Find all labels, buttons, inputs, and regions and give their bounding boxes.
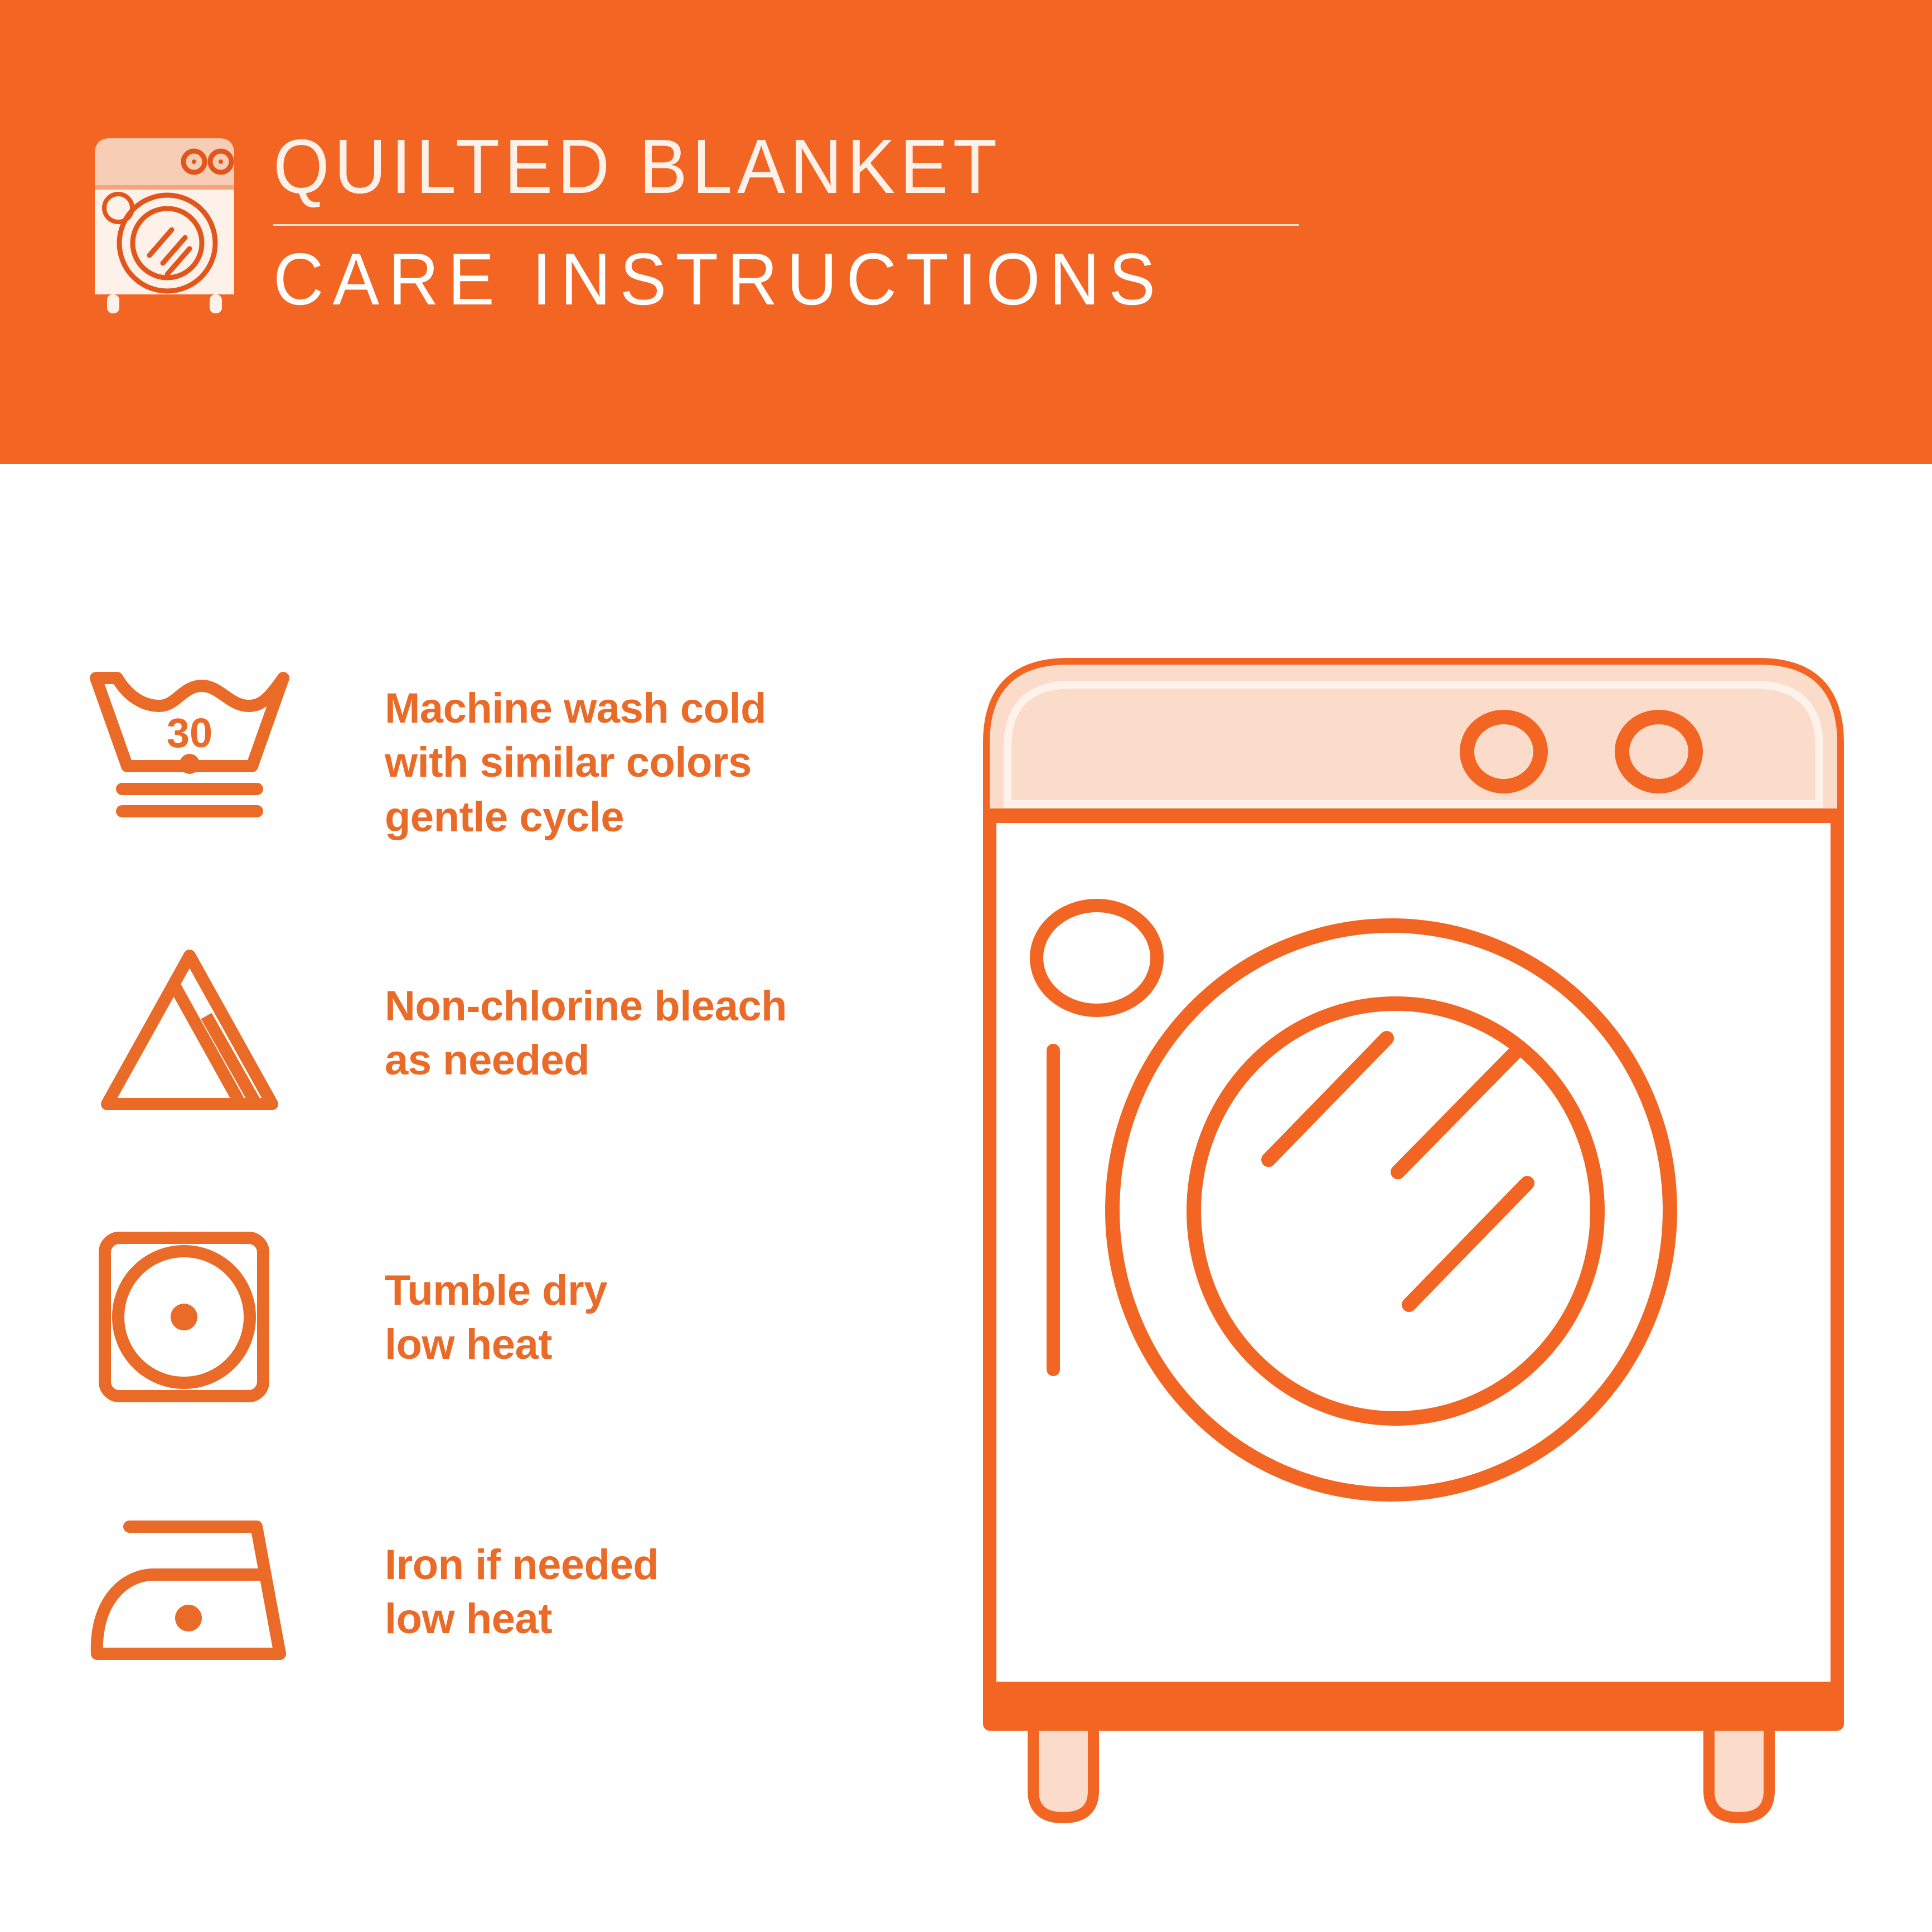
care-text-iron: Iron if needed low heat: [385, 1538, 658, 1647]
care-row-bleach: Non-chlorine bleach as needed: [84, 937, 920, 1216]
care-row-machine-wash: 30 Machine wash cold with similar colors…: [84, 658, 920, 937]
knob-left: [1467, 717, 1541, 786]
bleach-triangle-non-chlorine-icon: [84, 942, 296, 1126]
tumble-dry-low-heat-icon: [95, 1228, 273, 1412]
knob-right: [1622, 717, 1696, 786]
care-instructions-page: QUILTED BLANKET CARE INSTRUCTIONS 30: [0, 0, 1932, 1932]
svg-text:30: 30: [167, 710, 212, 756]
porthole-small: [1037, 906, 1157, 1010]
title-divider: [273, 224, 1299, 226]
care-row-tumble-dry: Tumble dry low heat: [84, 1216, 920, 1494]
care-text-machine-wash: Machine wash cold with similar colors ge…: [385, 681, 766, 844]
header-text-column: QUILTED BLANKET CARE INSTRUCTIONS: [273, 128, 1360, 316]
wash-tub-30-gentle-icon: 30: [84, 665, 296, 849]
care-text-bleach: Non-chlorine bleach as needed: [385, 979, 787, 1088]
page-subtitle: CARE INSTRUCTIONS: [273, 243, 1306, 316]
care-row-iron: Iron if needed low heat: [84, 1494, 920, 1773]
large-washing-machine-illustration: [967, 641, 1860, 1868]
header-inner: QUILTED BLANKET CARE INSTRUCTIONS: [84, 128, 1366, 340]
washing-machine-icon: [84, 134, 245, 318]
header-band: QUILTED BLANKET CARE INSTRUCTIONS: [0, 0, 1932, 464]
care-instruction-list: 30 Machine wash cold with similar colors…: [84, 658, 920, 1773]
drum-inner-ring: [1194, 1004, 1597, 1418]
page-title: QUILTED BLANKET: [273, 128, 1295, 205]
detergent-bar: [1047, 1044, 1060, 1376]
iron-low-heat-icon: [84, 1514, 296, 1698]
care-text-tumble-dry: Tumble dry low heat: [385, 1263, 607, 1372]
